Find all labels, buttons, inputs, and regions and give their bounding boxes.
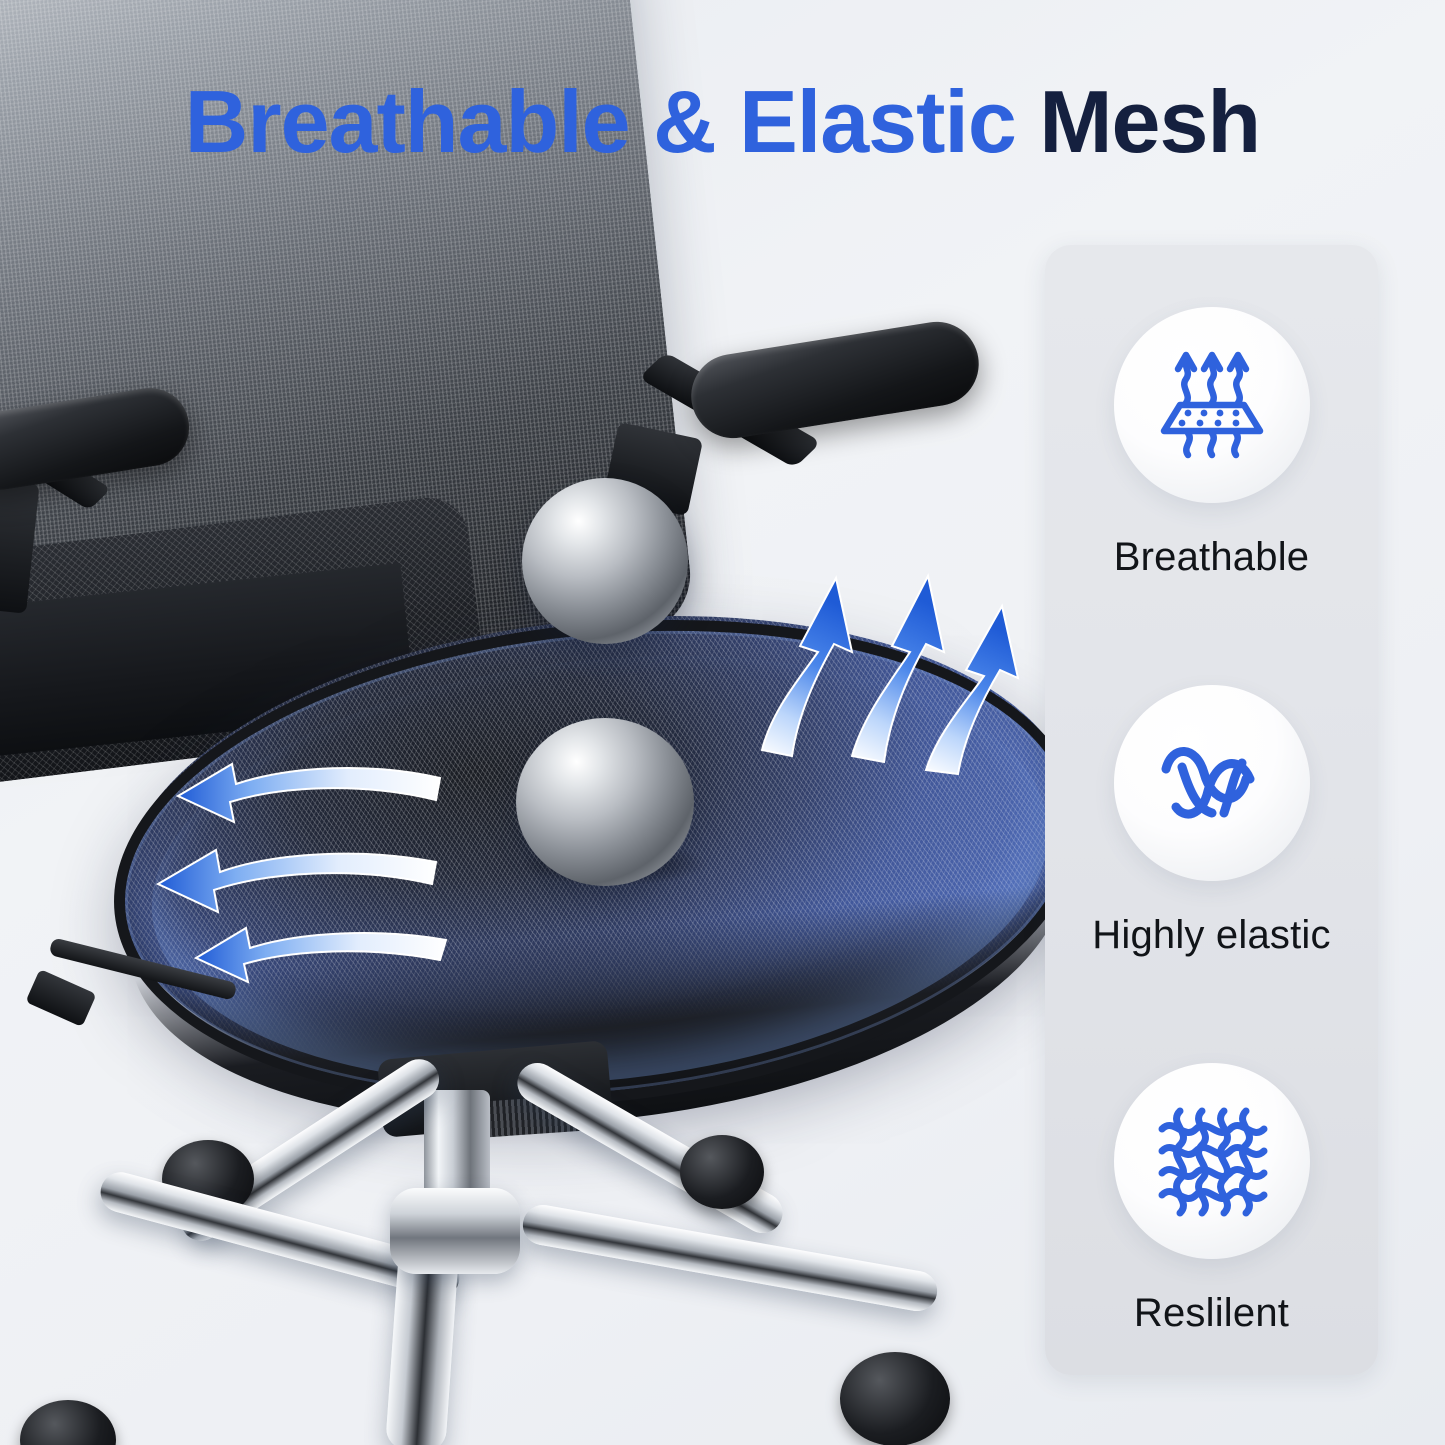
base-leg-4 (520, 1202, 941, 1314)
feature-icon-circle (1114, 685, 1310, 881)
feature-icon-circle (1114, 1063, 1310, 1259)
feature-label-highly-elastic: Highly elastic (1045, 913, 1378, 958)
elastic-spring-wave-icon (1146, 717, 1278, 849)
breathable-airflow-icon (1146, 339, 1278, 471)
feature-item-breathable[interactable]: Breathable (1045, 307, 1378, 580)
base-center-hub (390, 1188, 520, 1274)
airflow-up-arrows (760, 560, 1060, 780)
base-leg-5 (385, 1248, 459, 1445)
woven-weave-icon (1146, 1095, 1278, 1227)
feature-label-reslilent: Reslilent (1045, 1291, 1378, 1336)
height-adjust-lever-tip (25, 969, 96, 1027)
feature-icon-circle (1114, 307, 1310, 503)
feature-label-breathable: Breathable (1045, 535, 1378, 580)
office-chair-illustration (0, 0, 1100, 1445)
caster-wheel-4 (20, 1400, 116, 1445)
feature-panel: Breathable Highly elastic (1045, 245, 1378, 1375)
airflow-arrow-left-2 (158, 850, 436, 912)
title-primary-text: Breathable & Elastic (185, 72, 1016, 171)
feature-item-reslilent[interactable]: Reslilent (1045, 1063, 1378, 1336)
airflow-arrow-left-3 (196, 928, 446, 982)
caster-wheel-2 (680, 1135, 764, 1209)
feature-item-highly-elastic[interactable]: Highly elastic (1045, 685, 1378, 958)
steel-ball-lower (516, 718, 694, 886)
airflow-arrow-left-1 (178, 764, 440, 822)
right-armrest-pad (685, 316, 985, 444)
steel-ball-upper (522, 478, 688, 644)
title-accent-text: Mesh (1016, 72, 1260, 171)
product-feature-banner: Breathable & Elastic Mesh (0, 0, 1445, 1445)
caster-wheel-3 (840, 1352, 950, 1445)
airflow-arrow-up-1 (762, 578, 852, 756)
airflow-left-arrows (140, 740, 480, 990)
page-title: Breathable & Elastic Mesh (0, 78, 1445, 166)
airflow-arrow-up-2 (852, 576, 944, 762)
